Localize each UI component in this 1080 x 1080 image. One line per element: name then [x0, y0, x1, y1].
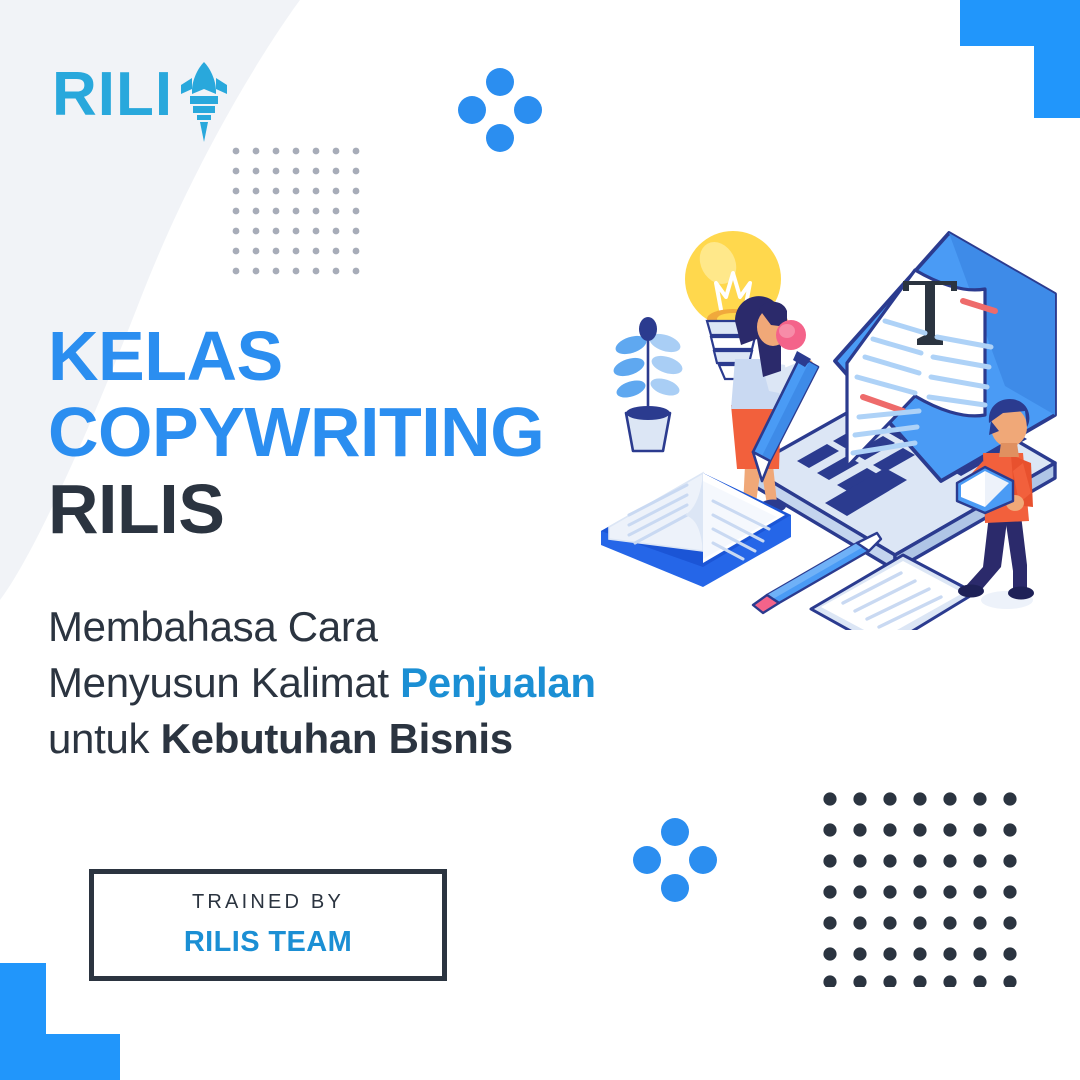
dot-grid-dark — [823, 792, 1018, 987]
subheadline-highlight-1: Penjualan — [400, 659, 596, 706]
text-content-block: KELAS COPYWRITING RILIS Membahasa Cara M… — [48, 318, 768, 766]
trainer-credit-box: TRAINED BY RILIS TEAM — [89, 869, 447, 981]
dot-grid-light — [231, 146, 361, 276]
logo-rocket-pen-icon — [181, 62, 227, 142]
headline-line-1: KELAS — [48, 317, 283, 395]
subheadline-part-3: untuk — [48, 715, 161, 762]
subheadline-part-1: Membahasa Cara — [48, 603, 378, 650]
dot-cluster-top — [458, 68, 542, 152]
page-title: KELAS COPYWRITING RILIS — [48, 318, 768, 547]
trainer-label: TRAINED BY — [192, 891, 344, 914]
subheadline-highlight-2: Kebutuhan Bisnis — [161, 715, 513, 762]
headline-line-2: COPYWRITING — [48, 393, 544, 471]
headline-line-3: RILIS — [48, 470, 224, 548]
brand-logo[interactable]: RILI — [52, 58, 237, 150]
logo-wordmark: RILI — [52, 60, 173, 129]
trainer-name: RILIS TEAM — [184, 926, 352, 959]
subheadline-part-2: Menyusun Kalimat — [48, 659, 400, 706]
dot-cluster-bottom — [633, 818, 717, 902]
poster-canvas: RILI — [0, 0, 1080, 1080]
subheadline: Membahasa Cara Menyusun Kalimat Penjuala… — [48, 547, 768, 767]
